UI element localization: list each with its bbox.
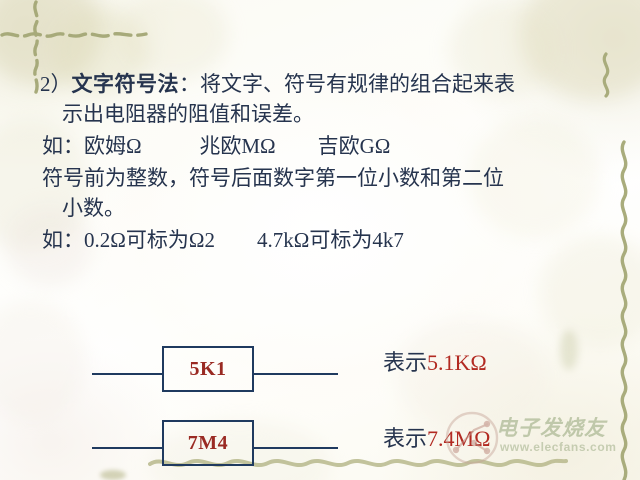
annotation-value: 7.4MΩ (427, 426, 490, 451)
annotation-7m4: 表示7.4MΩ (383, 428, 490, 450)
body-line-6-examples: 如：0.2Ω可标为Ω2 4.7kΩ可标为4k7 (42, 230, 640, 251)
watermark-url: www.elecfans.com (500, 440, 617, 454)
background-blotch (0, 300, 86, 420)
annotation-value: 5.1KΩ (427, 350, 487, 375)
body-line-2: 示出电阻器的阻值和误差。 (62, 104, 640, 125)
resistor-lead-right (252, 373, 338, 375)
background-blotch (396, 320, 546, 430)
background-blotch (540, 236, 640, 346)
term-wenzi-fuhao-fa: 文字符号法 (72, 72, 180, 96)
body-line-1-rest: ：将文字、符号有规律的组合起来表 (179, 72, 515, 96)
annotation-5k1: 表示5.1KΩ (383, 352, 487, 374)
background-blotch (118, 0, 228, 80)
resistor-body: 5K1 (162, 346, 254, 392)
body-line-3-units: 如：欧姆Ω 兆欧MΩ 吉欧GΩ (42, 136, 640, 157)
resistor-lead-left (92, 447, 164, 449)
body-line-4: 符号前为整数，符号后面数字第一位小数和第二位 (42, 168, 640, 189)
watermark-brand: 电子发烧友 (496, 412, 606, 442)
body-line-5: 小数。 (62, 198, 640, 219)
decorative-border-top-left (0, 22, 150, 46)
body-line-1: 2）文字符号法：将文字、符号有规律的组合起来表 (40, 74, 640, 95)
resistor-lead-left (92, 373, 164, 375)
decorative-fleck (560, 330, 578, 370)
resistor-marking-label: 7M4 (164, 422, 252, 464)
resistor-diagram-5k1: 5K1 (92, 346, 340, 402)
resistor-body: 7M4 (162, 420, 254, 466)
slide-canvas: 2）文字符号法：将文字、符号有规律的组合起来表 示出电阻器的阻值和误差。 如：欧… (0, 0, 640, 480)
annotation-prefix: 表示 (383, 426, 427, 451)
annotation-prefix: 表示 (383, 350, 427, 375)
resistor-diagram-7m4: 7M4 (92, 420, 340, 476)
resistor-lead-right (252, 447, 338, 449)
item-number: 2） (40, 72, 72, 96)
resistor-marking-label: 5K1 (164, 348, 252, 390)
slide-body-text: 2）文字符号法：将文字、符号有规律的组合起来表 示出电阻器的阻值和误差。 如：欧… (0, 74, 640, 251)
